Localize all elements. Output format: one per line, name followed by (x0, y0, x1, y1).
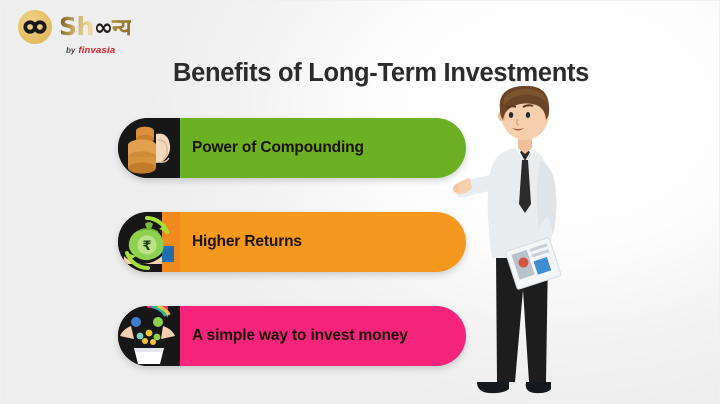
infinity-icon (18, 10, 52, 44)
benefits-list: Power of Compounding ₹ (118, 118, 466, 366)
rupee-money-bag-icon: ₹ (118, 212, 180, 272)
logo-row: Sh∞न्य (18, 10, 131, 44)
benefit-item-power-of-compounding: Power of Compounding (118, 118, 466, 178)
coin-stack-icon (118, 118, 180, 178)
logo-tagline-brand: finvasia (78, 45, 115, 56)
benefit-item-higher-returns: ₹ Higher Returns (118, 212, 466, 272)
svg-text:₹: ₹ (142, 239, 151, 254)
logo-tagline-by: by (66, 46, 75, 55)
hands-coins-box-icon (118, 306, 180, 366)
benefit-label: Higher Returns (192, 233, 302, 251)
benefit-item-simple-way-to-invest: A simple way to invest money (118, 306, 466, 366)
logo-word-prefix: Sh (59, 12, 94, 41)
businessman-pointing-illustration (452, 86, 642, 404)
benefit-label: A simple way to invest money (192, 327, 408, 345)
logo-word-infinity: ∞ (94, 15, 112, 41)
brand-logo: Sh∞न्य by finvasia (18, 10, 193, 56)
benefit-label: Power of Compounding (192, 139, 364, 157)
infographic-canvas: Sh∞न्य by finvasia Benefits of Long-Term… (0, 0, 720, 404)
logo-word-suffix: न्य (112, 15, 131, 41)
page-title: Benefits of Long-Term Investments (0, 59, 720, 88)
logo-wordmark: Sh∞न्य (59, 14, 131, 40)
logo-tagline: by finvasia (66, 45, 115, 56)
